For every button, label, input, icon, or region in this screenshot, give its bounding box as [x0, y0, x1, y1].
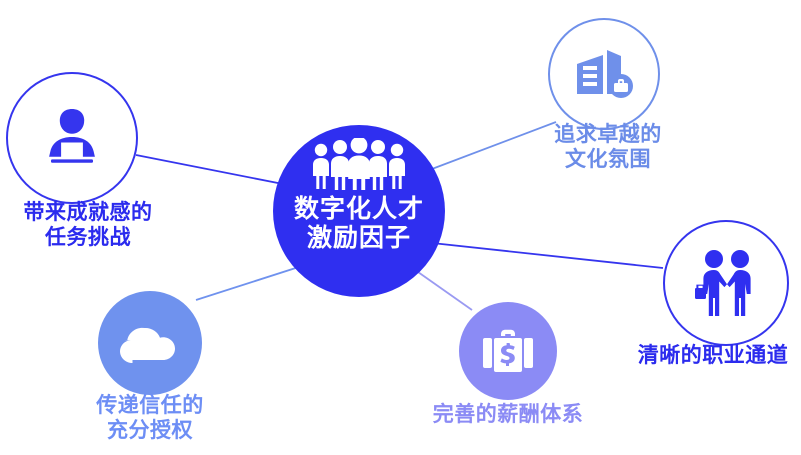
office-building-icon — [573, 44, 635, 104]
node-trust-label: 传递信任的 充分授权 — [62, 393, 238, 443]
two-people-icon — [690, 248, 762, 318]
infographic-canvas: 数字化人才激励因子 带来成就感的 任务挑战 — [0, 0, 801, 455]
link-pay-hub — [418, 272, 472, 310]
node-challenge-label: 带来成就感的 任务挑战 — [0, 200, 178, 250]
hub-title-line1: 数字化人才 — [294, 195, 424, 223]
link-challenge-hub — [136, 155, 288, 185]
link-career-hub — [432, 243, 663, 268]
node-pay-label: 完善的薪酬体系 — [418, 402, 598, 427]
link-trust-hub — [196, 265, 305, 300]
node-culture-label: 追求卓越的 文化氛围 — [520, 122, 696, 172]
node-career-bubble[interactable] — [663, 220, 789, 346]
node-career-label: 清晰的职业通道 — [625, 343, 801, 368]
hub-title-line2: 激励因子 — [307, 224, 411, 252]
node-pay-bubble[interactable] — [459, 302, 557, 400]
briefcase-dollar-icon — [480, 326, 536, 376]
hub-title: 数字化人才激励因子 — [294, 195, 424, 253]
person-at-laptop-icon — [35, 101, 109, 175]
cloud-icon — [119, 321, 181, 365]
group-of-people-icon — [311, 138, 407, 190]
node-culture-bubble[interactable] — [548, 18, 660, 130]
node-trust-bubble[interactable] — [98, 291, 202, 395]
node-challenge-bubble[interactable] — [6, 72, 138, 204]
hub-node[interactable]: 数字化人才激励因子 — [273, 125, 445, 297]
